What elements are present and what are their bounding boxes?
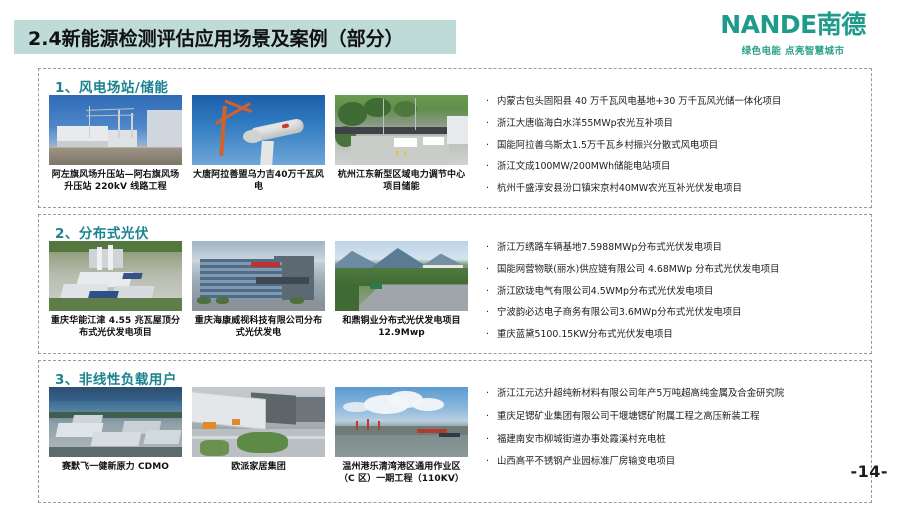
bullet-text: 浙江江元达升超纯新材料有限公司年产5万吨超高纯金属及合金研究院 — [497, 388, 859, 400]
bullet-item: · 浙江大唐临海白水洋55MWp农光互补项目 — [486, 118, 859, 130]
bullet-text: 杭州千盛淳安县汾口镇宋京村40MW农光互补光伏发电项目 — [497, 183, 859, 195]
section-body: 阿左旗风场升压站—阿右旗风场升压站 220kV 线路工程 大唐阿拉善盟乌力吉40… — [39, 95, 871, 207]
bullet-item: · 福建南安市柳城街道办事处霞溪村充电桩 — [486, 434, 859, 446]
bullet-text: 重庆蓝黛5100.15KW分布式光伏发电项目 — [497, 329, 859, 341]
media-item: 温州港乐清湾港区通用作业区（C 区）一期工程（110KV） — [335, 387, 468, 502]
bullet-item: · 杭州千盛淳安县汾口镇宋京村40MW农光互补光伏发电项目 — [486, 183, 859, 195]
bullet-marker-icon: · — [486, 456, 497, 468]
media-item: 赛默飞一健新原力 CDMO — [49, 387, 182, 502]
bullet-marker-icon: · — [486, 118, 497, 130]
bullet-item: · 浙江欧珑电气有限公司4.5WMp分布式光伏发电项目 — [486, 286, 859, 298]
section-body: 赛默飞一健新原力 CDMO 欧派家居集团 — [39, 387, 871, 502]
port-terminal-photo — [335, 387, 468, 457]
slide-header: 2.4新能源检测评估应用场景及案例（部分） NANDE南德 绿色电能 点亮智慧城… — [0, 0, 906, 66]
bullet-text: 内蒙古包头固阳县 40 万千瓦风电基地+30 万千瓦风光储一体化项目 — [497, 96, 859, 108]
bullet-item: · 重庆蓝黛5100.15KW分布式光伏发电项目 — [486, 329, 859, 341]
media-column: 阿左旗风场升压站—阿右旗风场升压站 220kV 线路工程 大唐阿拉善盟乌力吉40… — [39, 95, 464, 207]
media-caption: 温州港乐清湾港区通用作业区（C 区）一期工程（110KV） — [335, 461, 468, 485]
media-caption: 阿左旗风场升压站—阿右旗风场升压站 220kV 线路工程 — [49, 169, 182, 193]
brand-logo: NANDE南德 绿色电能 点亮智慧城市 — [698, 12, 888, 57]
section-distributed-pv: 2、分布式光伏 重庆华能江津 4.55 兆瓦屋顶分布式光伏发电项目 — [38, 214, 872, 354]
media-item: 阿左旗风场升压站—阿右旗风场升压站 220kV 线路工程 — [49, 95, 182, 207]
bullet-item: · 浙江文成100MW/200MWh储能电站项目 — [486, 161, 859, 173]
media-item: 重庆海康威视科技有限公司分布式光伏发电 — [192, 241, 325, 353]
media-caption: 和鼎铜业分布式光伏发电项目12.9Mwp — [335, 315, 468, 339]
title-banner: 2.4新能源检测评估应用场景及案例（部分） — [14, 20, 456, 54]
media-caption: 重庆海康威视科技有限公司分布式光伏发电 — [192, 315, 325, 339]
bullet-marker-icon: · — [486, 140, 497, 152]
bullet-text: 宁波韵必达电子商务有限公司3.6MWp分布式光伏发电项目 — [497, 307, 859, 319]
bullet-item: · 浙江江元达升超纯新材料有限公司年产5万吨超高纯金属及合金研究院 — [486, 388, 859, 400]
bullet-marker-icon: · — [486, 307, 497, 319]
bullet-text: 浙江万绣路车辆基地7.5988MWp分布式光伏发电项目 — [497, 242, 859, 254]
bullet-item: · 内蒙古包头固阳县 40 万千瓦风电基地+30 万千瓦风光储一体化项目 — [486, 96, 859, 108]
media-caption: 重庆华能江津 4.55 兆瓦屋顶分布式光伏发电项目 — [49, 315, 182, 339]
bullet-marker-icon: · — [486, 183, 497, 195]
aerial-campus-waterfront-photo — [49, 387, 182, 457]
media-item: 欧派家居集团 — [192, 387, 325, 502]
media-column: 赛默飞一健新原力 CDMO 欧派家居集团 — [39, 387, 464, 502]
section-nonlinear-load: 3、非线性负载用户 赛默飞一健新原力 CDMO — [38, 360, 872, 503]
bullet-marker-icon: · — [486, 434, 497, 446]
media-caption: 欧派家居集团 — [192, 461, 325, 473]
bullet-item: · 重庆足锶矿业集团有限公司干堰塘锶矿附属工程之高压新装工程 — [486, 411, 859, 423]
media-item: 重庆华能江津 4.55 兆瓦屋顶分布式光伏发电项目 — [49, 241, 182, 353]
page-title: 2.4新能源检测评估应用场景及案例（部分） — [14, 24, 404, 51]
media-caption: 大唐阿拉善盟乌力吉40万千瓦风电 — [192, 169, 325, 193]
bullet-text: 福建南安市柳城街道办事处霞溪村充电桩 — [497, 434, 859, 446]
bullet-marker-icon: · — [486, 96, 497, 108]
media-item: 杭州江东新型区域电力调节中心项目储能 — [335, 95, 468, 207]
bullet-marker-icon: · — [486, 242, 497, 254]
bullet-marker-icon: · — [486, 329, 497, 341]
media-item: 大唐阿拉善盟乌力吉40万千瓦风电 — [192, 95, 325, 207]
bullet-text: 浙江大唐临海白水洋55MWp农光互补项目 — [497, 118, 859, 130]
bullet-marker-icon: · — [486, 161, 497, 173]
bullet-marker-icon: · — [486, 388, 497, 400]
bullet-text: 浙江文成100MW/200MWh储能电站项目 — [497, 161, 859, 173]
media-item: 和鼎铜业分布式光伏发电项目12.9Mwp — [335, 241, 468, 353]
bullet-text: 浙江欧珑电气有限公司4.5WMp分布式光伏发电项目 — [497, 286, 859, 298]
slide-root: 2.4新能源检测评估应用场景及案例（部分） NANDE南德 绿色电能 点亮智慧城… — [0, 0, 906, 513]
bullet-item: · 国能网营物联(丽水)供应链有限公司 4.68MWp 分布式光伏发电项目 — [486, 264, 859, 276]
media-caption: 杭州江东新型区域电力调节中心项目储能 — [335, 169, 468, 193]
section-body: 重庆华能江津 4.55 兆瓦屋顶分布式光伏发电项目 重庆海康威视科技有限公司分布… — [39, 241, 871, 353]
section-wind-storage: 1、风电场站/储能 阿左旗风场升压站—阿右旗风场升压站 220kV 线路工程 — [38, 68, 872, 208]
bullet-list: · 浙江江元达升超纯新材料有限公司年产5万吨超高纯金属及合金研究院 · 重庆足锶… — [464, 387, 871, 502]
brand-tagline: 绿色电能 点亮智慧城市 — [698, 43, 888, 57]
media-column: 重庆华能江津 4.55 兆瓦屋顶分布式光伏发电项目 重庆海康威视科技有限公司分布… — [39, 241, 464, 353]
bullet-text: 重庆足锶矿业集团有限公司干堰塘锶矿附属工程之高压新装工程 — [497, 411, 859, 423]
aerial-substation-photo — [335, 95, 468, 165]
section-title: 2、分布式光伏 — [55, 222, 149, 242]
bullet-item: · 山西高平不锈钢产业园标准厂房输变电项目 — [486, 456, 859, 468]
aerial-factory-courtyard-photo — [192, 387, 325, 457]
section-title: 3、非线性负载用户 — [55, 368, 177, 388]
page-number: -14- — [850, 462, 888, 481]
glass-office-building-photo — [192, 241, 325, 311]
aerial-industrial-park-photo — [49, 241, 182, 311]
bullet-list: · 浙江万绣路车辆基地7.5988MWp分布式光伏发电项目 · 国能网营物联(丽… — [464, 241, 871, 353]
bullet-marker-icon: · — [486, 264, 497, 276]
bullet-marker-icon: · — [486, 286, 497, 298]
section-title: 1、风电场站/储能 — [55, 76, 168, 96]
bullet-list: · 内蒙古包头固阳县 40 万千瓦风电基地+30 万千瓦风光储一体化项目 · 浙… — [464, 95, 871, 207]
bullet-text: 山西高平不锈钢产业园标准厂房输变电项目 — [497, 456, 859, 468]
bullet-text: 国能阿拉善乌斯太1.5万千瓦乡村振兴分散式风电项目 — [497, 140, 859, 152]
brand-name: NANDE南德 — [698, 12, 888, 38]
substation-blue-sky-photo — [49, 95, 182, 165]
media-caption: 赛默飞一健新原力 CDMO — [49, 461, 182, 473]
bullet-item: · 宁波韵必达电子商务有限公司3.6MWp分布式光伏发电项目 — [486, 307, 859, 319]
bullet-text: 国能网营物联(丽水)供应链有限公司 4.68MWp 分布式光伏发电项目 — [497, 264, 859, 276]
mountain-campus-photo — [335, 241, 468, 311]
bullet-marker-icon: · — [486, 411, 497, 423]
wind-turbine-crane-photo — [192, 95, 325, 165]
bullet-item: · 国能阿拉善乌斯太1.5万千瓦乡村振兴分散式风电项目 — [486, 140, 859, 152]
bullet-item: · 浙江万绣路车辆基地7.5988MWp分布式光伏发电项目 — [486, 242, 859, 254]
